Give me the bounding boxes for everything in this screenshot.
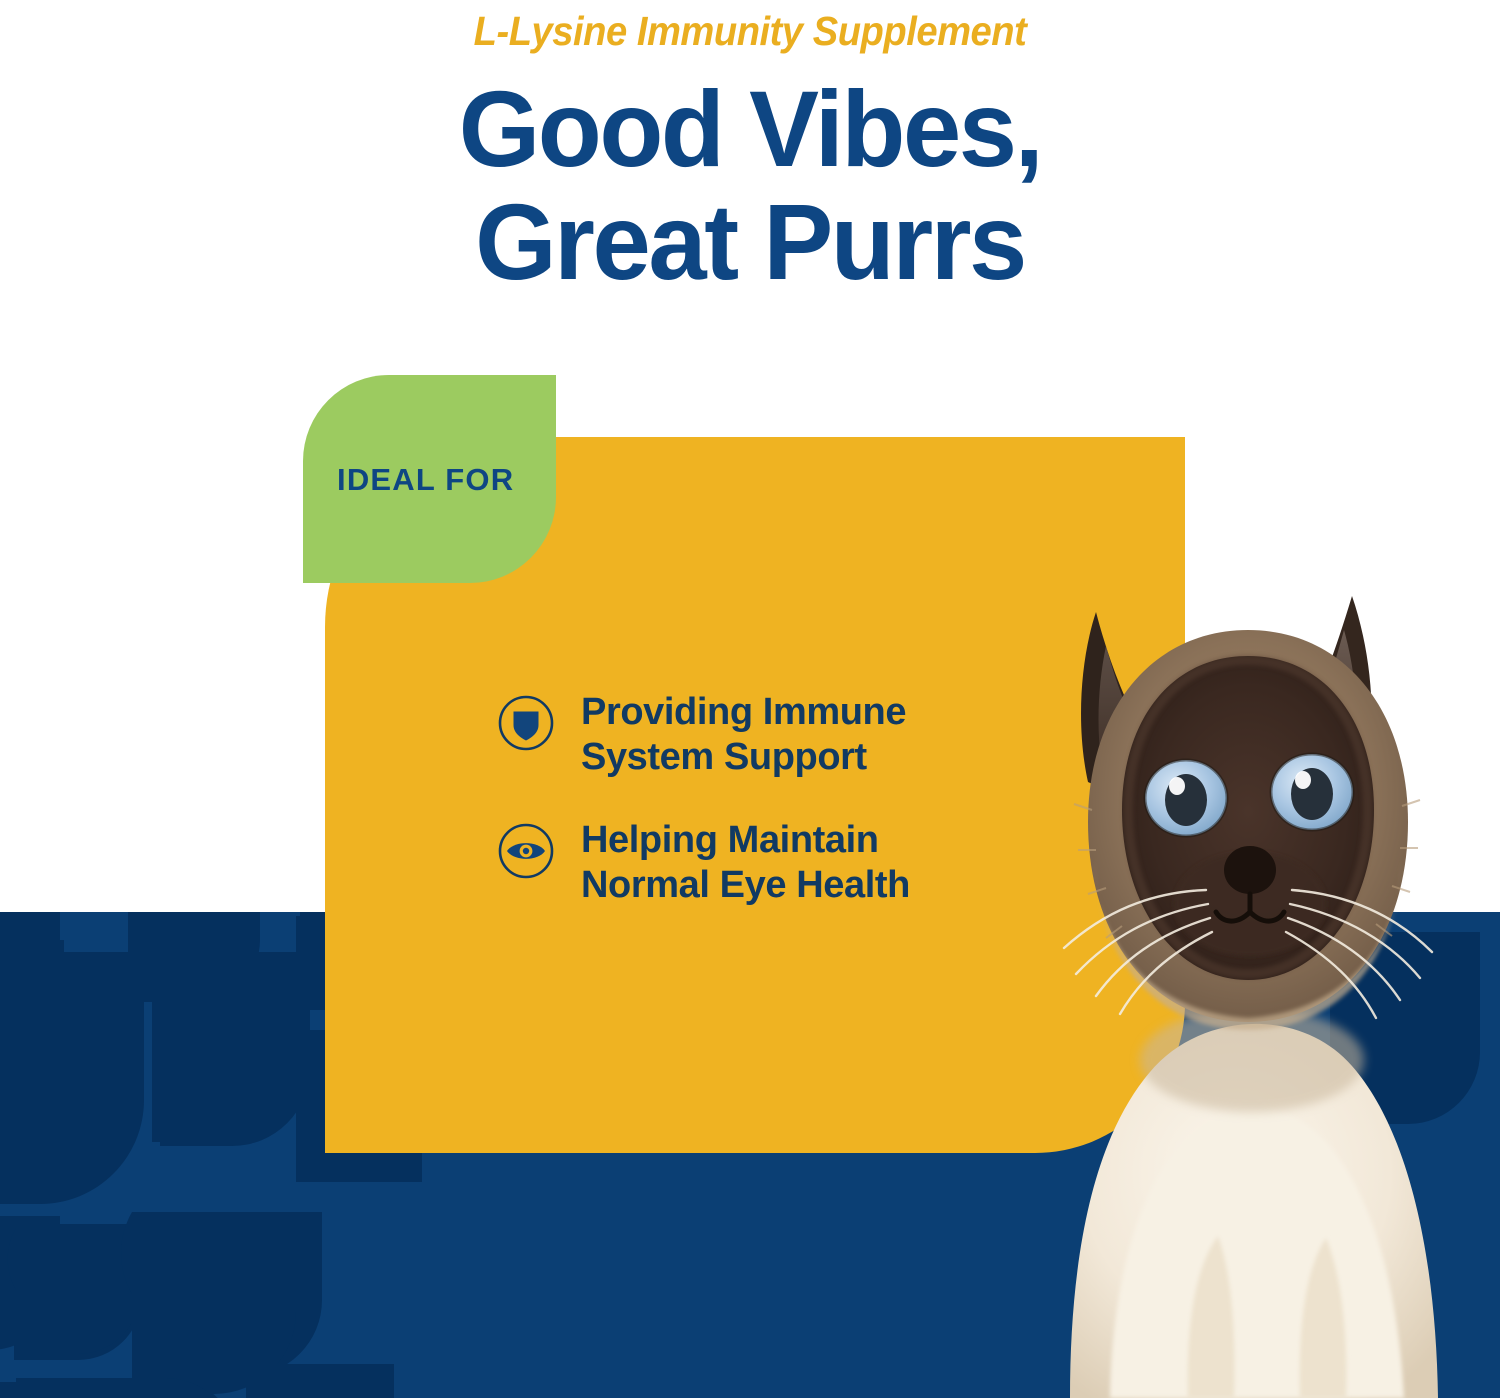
- product-banner: IDEAL FOR Providing Immune System Suppor…: [0, 0, 1500, 1398]
- benefit-item-eye-health: Helping Maintain Normal Eye Health: [497, 818, 1057, 908]
- ideal-for-tab: IDEAL FOR: [303, 375, 556, 583]
- benefit-item-immune-support: Providing Immune System Support: [497, 690, 1057, 780]
- page-title: Good Vibes, Great Purrs: [23, 72, 1478, 298]
- eye-icon: [497, 822, 555, 880]
- benefit-label: Providing Immune System Support: [581, 690, 906, 780]
- cat-illustration: [1000, 560, 1500, 1398]
- headline-line-1: Good Vibes,: [459, 68, 1042, 189]
- benefit-label: Helping Maintain Normal Eye Health: [581, 818, 910, 908]
- shield-icon: [497, 694, 555, 752]
- eyebrow-text: L-Lysine Immunity Supplement: [53, 6, 1448, 56]
- ideal-for-tab-label: IDEAL FOR: [337, 463, 514, 497]
- headline-line-2: Great Purrs: [23, 185, 1478, 298]
- benefit-list: Providing Immune System Support Helping …: [497, 690, 1057, 946]
- cat-photo: [1000, 560, 1500, 1398]
